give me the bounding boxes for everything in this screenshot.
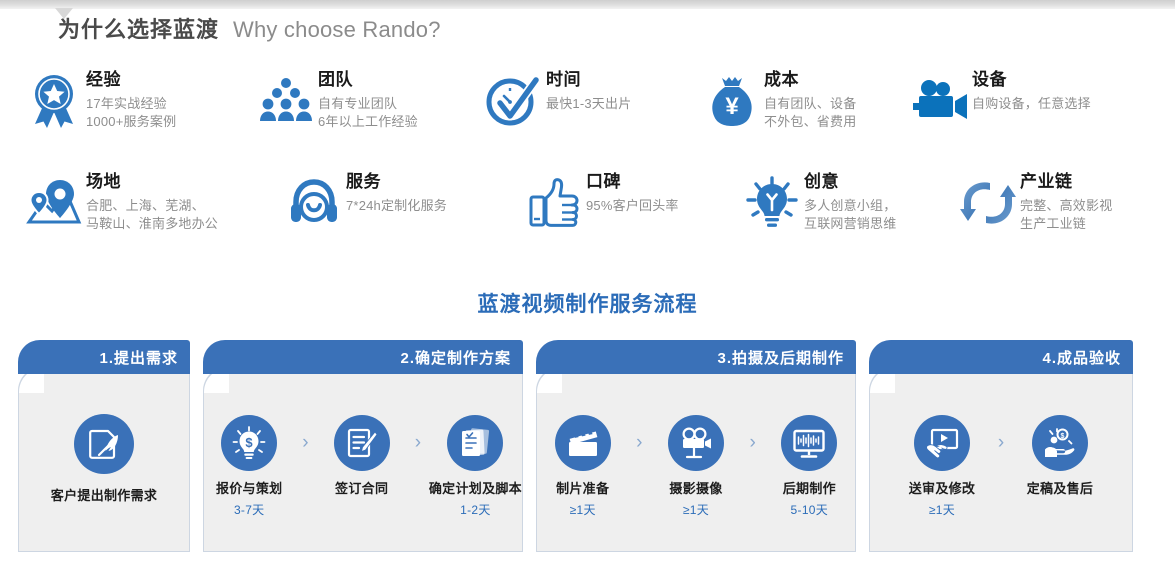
feature-title: 时间 <box>546 70 631 90</box>
step-label: 客户提出制作需求 <box>51 488 157 505</box>
features-section: 经验 17年实战经验 1000+服务案例 <box>22 68 1172 266</box>
feature-creativity: 创意 多人创意小组， 互联网营销思维 <box>740 170 956 266</box>
feature-text: 经验 17年实战经验 1000+服务案例 <box>86 68 176 131</box>
feature-equipment: 设备 自购设备，任意选择 <box>908 68 1158 170</box>
feature-desc: 最快1-3天出片 <box>546 95 631 113</box>
step-label: 摄影摄像 <box>669 481 722 498</box>
feature-text: 设备 自购设备，任意选择 <box>972 68 1091 113</box>
process-card-3-header: 3.拍摄及后期制作 <box>536 340 856 374</box>
recycle-arrows-icon <box>956 170 1020 236</box>
feature-desc: 多人创意小组， 互联网营销思维 <box>804 197 896 234</box>
chevron-right-icon: › <box>742 433 764 452</box>
bulb-dollar-icon: $ <box>221 415 277 471</box>
step-item: 确定计划及脚本 1-2天 <box>429 415 522 519</box>
feature-venue: 场地 合肥、上海、芜湖、 马鞍山、淮南多地办公 <box>22 170 282 266</box>
feature-reputation: 口碑 95%客户回头率 <box>522 170 740 266</box>
feature-text: 产业链 完整、高效影视 生产工业链 <box>1020 170 1112 233</box>
step-list: 制片准备 ≥1天 › <box>537 401 855 519</box>
process-card-2-header: 2.确定制作方案 <box>203 340 523 374</box>
process-card-2-body: $ 报价与策划 3-7天 › <box>203 367 523 552</box>
feature-title: 口碑 <box>586 172 679 192</box>
feature-team: 团队 自有专业团队 6年以上工作经验 <box>254 68 482 170</box>
chevron-right-icon: › <box>628 433 650 452</box>
feature-title: 产业链 <box>1020 172 1112 192</box>
svg-text:$: $ <box>1061 433 1065 440</box>
process-card-3-body: 制片准备 ≥1天 › <box>536 367 856 552</box>
step-item: 客户提出制作需求 <box>34 414 174 524</box>
feature-desc: 7*24h定制化服务 <box>346 197 447 215</box>
step-days: ≥1天 <box>570 501 596 518</box>
step-days: 1-2天 <box>460 501 491 518</box>
team-icon <box>254 68 318 134</box>
process-card-4-body: 送审及修改 ≥1天 › $ <box>869 367 1133 552</box>
feature-experience: 经验 17年实战经验 1000+服务案例 <box>22 68 254 170</box>
step-list: $ 报价与策划 3-7天 › <box>204 401 522 519</box>
feature-title: 场地 <box>86 172 218 192</box>
feature-desc: 自有专业团队 6年以上工作经验 <box>318 95 418 132</box>
step-item: 后期制作 5-10天 <box>764 415 855 519</box>
feature-title: 团队 <box>318 70 418 90</box>
feature-text: 口碑 95%客户回头率 <box>586 170 679 215</box>
step-list: 客户提出制作需求 <box>19 396 189 524</box>
feature-cost: ¥ 成本 自有团队、设备 不外包、省费用 <box>700 68 908 170</box>
svg-text:$: $ <box>246 435 254 450</box>
chevron-right-icon: › <box>294 433 316 452</box>
features-row-2: 场地 合肥、上海、芜湖、 马鞍山、淮南多地办公 服务 7*24h <box>22 170 1172 266</box>
process-card-1-body: 客户提出制作需求 <box>18 367 190 552</box>
feature-desc: 17年实战经验 1000+服务案例 <box>86 95 176 132</box>
video-camera-icon <box>908 68 972 134</box>
money-bag-icon: ¥ <box>700 68 764 134</box>
clock-check-icon <box>482 68 546 134</box>
feature-title: 设备 <box>972 70 1091 90</box>
chevron-right-icon: › <box>407 433 429 452</box>
step-days: 5-10天 <box>791 501 829 518</box>
process-card-1-header: 1.提出需求 <box>18 340 190 374</box>
feature-desc: 95%客户回头率 <box>586 197 679 215</box>
step-list: 送审及修改 ≥1天 › $ <box>870 401 1132 519</box>
features-row-1: 经验 17年实战经验 1000+服务案例 <box>22 68 1172 170</box>
chevron-right-icon: › <box>990 433 1012 452</box>
feature-text: 创意 多人创意小组， 互联网营销思维 <box>804 170 896 233</box>
step-label: 后期制作 <box>783 481 836 498</box>
movie-camera-icon <box>668 415 724 471</box>
headset-icon <box>282 170 346 236</box>
step-days: ≥1天 <box>929 501 955 518</box>
top-gray-strip <box>0 0 1175 9</box>
feature-desc: 完整、高效影视 生产工业链 <box>1020 197 1112 234</box>
lightbulb-icon <box>740 170 804 236</box>
step-item: 制片准备 ≥1天 <box>537 415 628 519</box>
script-docs-icon <box>447 415 503 471</box>
feature-text: 团队 自有专业团队 6年以上工作经验 <box>318 68 418 131</box>
process-card-4-header: 4.成品验收 <box>869 340 1133 374</box>
feature-text: 服务 7*24h定制化服务 <box>346 170 447 215</box>
feature-title: 经验 <box>86 70 176 90</box>
feature-desc: 自购设备，任意选择 <box>972 95 1091 113</box>
page-title-en: Why choose Rando? <box>233 17 441 43</box>
map-pin-icon <box>22 170 86 236</box>
process-section-title: 蓝渡视频制作服务流程 <box>0 288 1175 318</box>
feature-title: 成本 <box>764 70 856 90</box>
page-title-cn: 为什么选择蓝渡 <box>58 12 219 44</box>
step-item: $ 报价与策划 3-7天 <box>204 415 294 519</box>
process-card-4: 4.成品验收 送审及修改 ≥1天 <box>869 340 1133 552</box>
handshake-screen-icon <box>914 415 970 471</box>
monitor-edit-icon <box>781 415 837 471</box>
feature-time: 时间 最快1-3天出片 <box>482 68 700 170</box>
svg-text:¥: ¥ <box>725 93 739 120</box>
hand-coins-icon: $ <box>1032 415 1088 471</box>
step-label: 报价与策划 <box>216 481 283 498</box>
thumbs-up-icon <box>522 170 586 236</box>
step-label: 制片准备 <box>556 481 609 498</box>
process-card-3: 3.拍摄及后期制作 <box>536 340 856 552</box>
medal-icon <box>22 68 86 134</box>
step-item: 签订合同 <box>316 415 406 517</box>
process-cards: 1.提出需求 客户提出制作需求 <box>18 340 1133 552</box>
step-days: 3-7天 <box>234 501 265 518</box>
step-item: 摄影摄像 ≥1天 <box>650 415 741 519</box>
document-pen-icon <box>74 414 134 474</box>
feature-desc: 合肥、上海、芜湖、 马鞍山、淮南多地办公 <box>86 197 218 234</box>
step-item: $ 定稿及售后 <box>1012 415 1108 517</box>
step-label: 定稿及售后 <box>1027 481 1094 498</box>
process-card-2: 2.确定制作方案 <box>203 340 523 552</box>
feature-title: 创意 <box>804 172 896 192</box>
clapperboard-icon <box>555 415 611 471</box>
step-label: 确定计划及脚本 <box>429 481 522 498</box>
page-root: 为什么选择蓝渡 Why choose Rando? 经验 17年实 <box>0 0 1175 570</box>
contract-pen-icon <box>334 415 390 471</box>
page-title: 为什么选择蓝渡 Why choose Rando? <box>58 12 441 44</box>
step-item: 送审及修改 ≥1天 <box>894 415 990 519</box>
feature-industry-chain: 产业链 完整、高效影视 生产工业链 <box>956 170 1166 266</box>
feature-text: 时间 最快1-3天出片 <box>546 68 631 113</box>
feature-text: 成本 自有团队、设备 不外包、省费用 <box>764 68 856 131</box>
feature-desc: 自有团队、设备 不外包、省费用 <box>764 95 856 132</box>
process-card-1: 1.提出需求 客户提出制作需求 <box>18 340 190 552</box>
step-days: ≥1天 <box>683 501 709 518</box>
step-label: 签订合同 <box>335 481 388 498</box>
step-label: 送审及修改 <box>909 481 976 498</box>
feature-title: 服务 <box>346 172 447 192</box>
feature-service: 服务 7*24h定制化服务 <box>282 170 522 266</box>
feature-text: 场地 合肥、上海、芜湖、 马鞍山、淮南多地办公 <box>86 170 218 233</box>
